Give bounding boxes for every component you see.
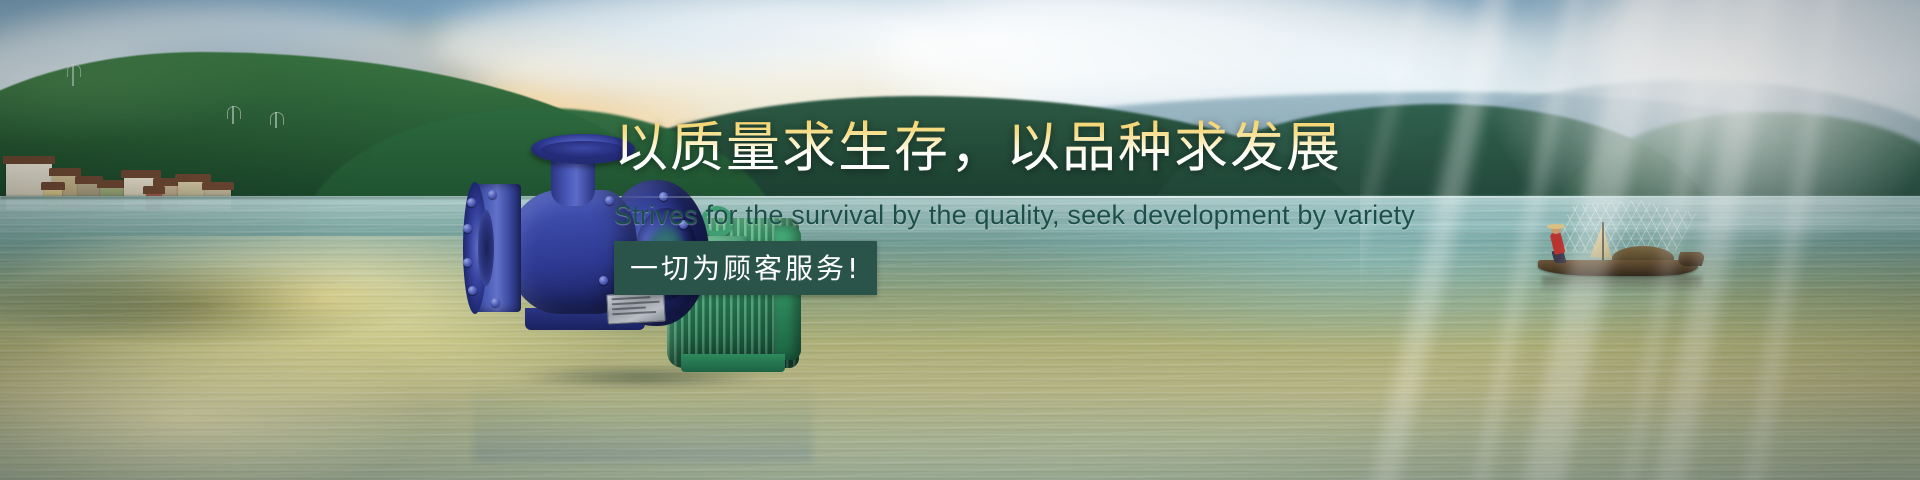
flange-bolt: [467, 198, 476, 207]
flange-bolt: [468, 286, 477, 295]
flange-bolt: [463, 224, 472, 233]
cloud: [430, 0, 950, 100]
casing-bolt: [599, 276, 608, 285]
banner-tagline-badge: 一切为顾客服务!: [614, 241, 877, 295]
banner-headline: 以质量求生存，以品种求发展: [614, 118, 1794, 178]
pump-discharge-flange-inner: [541, 141, 625, 159]
motor-base-foot: [681, 354, 785, 372]
headline-divider: [610, 196, 1806, 198]
hero-banner: 以质量求生存，以品种求发展 Strives for the survival b…: [0, 0, 1920, 480]
pump-suction-bore: [478, 210, 494, 286]
power-pylon: [232, 106, 234, 124]
pump-water-reflection: [473, 370, 813, 462]
cloud: [1580, 0, 1920, 110]
tagline-container: 一切为顾客服务!: [614, 241, 1794, 295]
flange-bolt: [463, 258, 472, 267]
pump-nameplate: [606, 292, 665, 325]
cloud: [880, 0, 1520, 130]
banner-copy: 以质量求生存，以品种求发展 Strives for the survival b…: [614, 118, 1794, 295]
banner-subheadline: Strives for the survival by the quality,…: [614, 178, 1794, 231]
centrifugal-pump-product: [235, 98, 585, 298]
flange-bolt: [491, 298, 500, 307]
flange-bolt: [488, 190, 497, 199]
power-pylon: [72, 64, 74, 86]
